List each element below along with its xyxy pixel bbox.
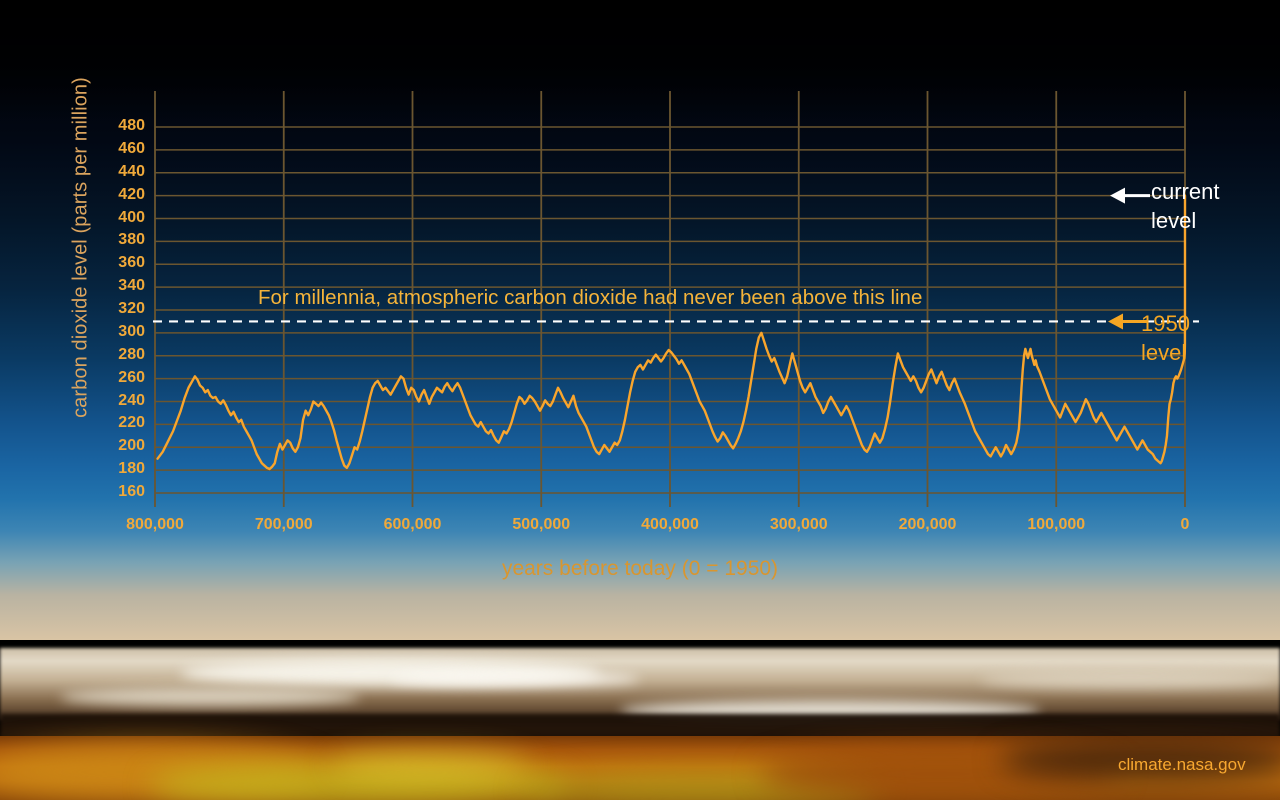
x-tick-label: 100,000 [996, 516, 1116, 534]
1950-level-line2: level [1141, 338, 1190, 367]
y-tick-label: 480 [95, 117, 145, 135]
y-tick-label: 300 [95, 323, 145, 341]
y-tick-label: 420 [95, 186, 145, 204]
y-tick-label: 180 [95, 460, 145, 478]
y-tick-label: 340 [95, 277, 145, 295]
x-tick-label: 700,000 [224, 516, 344, 534]
current-level-line1: current [1151, 177, 1219, 206]
x-tick-label: 0 [1125, 516, 1245, 534]
nasa-watermark: climate.nasa.gov [1118, 755, 1246, 775]
y-tick-label: 320 [95, 300, 145, 318]
x-tick-label: 400,000 [610, 516, 730, 534]
current-level-line2: level [1151, 206, 1219, 235]
y-tick-label: 220 [95, 414, 145, 432]
x-axis-title: years before today (0 = 1950) [0, 557, 1280, 581]
1950-level-annotation: 1950 level [1141, 309, 1190, 367]
x-tick-label: 300,000 [739, 516, 859, 534]
y-tick-label: 200 [95, 437, 145, 455]
y-axis-title: carbon dioxide level (parts per million) [70, 48, 93, 448]
chart-canvas [0, 0, 1280, 800]
x-tick-label: 600,000 [353, 516, 473, 534]
y-tick-label: 240 [95, 392, 145, 410]
current-level-annotation: current level [1151, 177, 1219, 235]
y-tick-label: 380 [95, 231, 145, 249]
y-tick-label: 460 [95, 140, 145, 158]
y-tick-label: 400 [95, 209, 145, 227]
x-tick-label: 800,000 [95, 516, 215, 534]
y-tick-label: 440 [95, 163, 145, 181]
x-tick-label: 200,000 [868, 516, 988, 534]
y-tick-label: 160 [95, 483, 145, 501]
y-tick-label: 260 [95, 369, 145, 387]
y-tick-label: 360 [95, 254, 145, 272]
co2-chart: carbon dioxide level (parts per million)… [0, 0, 1280, 800]
co2-infographic: carbon dioxide level (parts per million)… [0, 0, 1280, 800]
y-tick-label: 280 [95, 346, 145, 364]
1950-level-line1: 1950 [1141, 309, 1190, 338]
x-tick-label: 500,000 [481, 516, 601, 534]
threshold-note: For millennia, atmospheric carbon dioxid… [258, 286, 922, 310]
